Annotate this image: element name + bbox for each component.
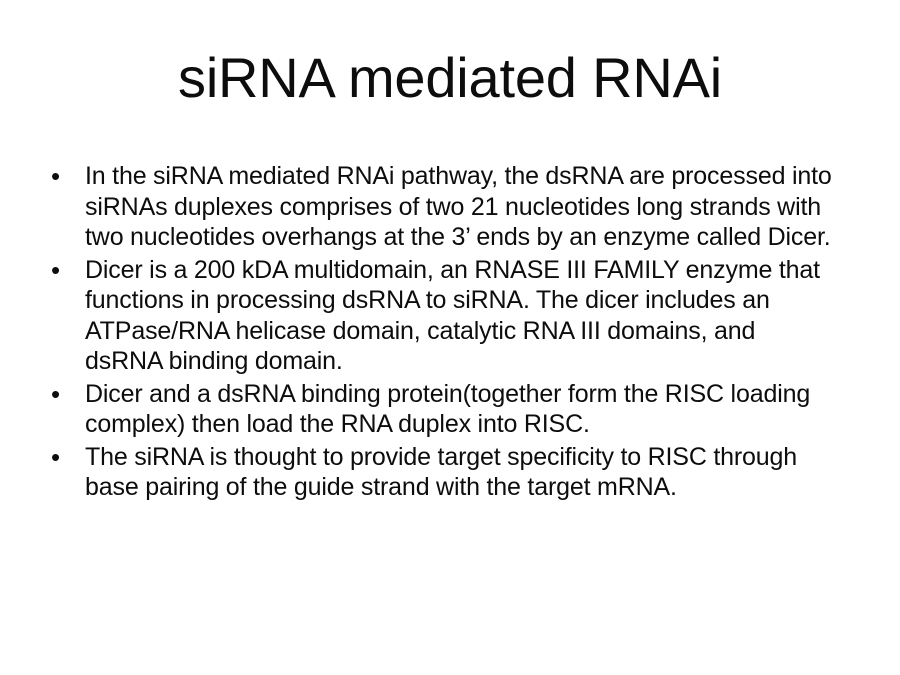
bullet-marker-icon: • <box>44 442 85 473</box>
list-item: • The siRNA is thought to provide target… <box>44 442 834 503</box>
bullet-text: Dicer and a dsRNA binding protein(togeth… <box>85 379 834 440</box>
bullet-marker-icon: • <box>44 161 85 192</box>
list-item: • Dicer and a dsRNA binding protein(toge… <box>44 379 834 440</box>
bullet-text: The siRNA is thought to provide target s… <box>85 442 834 503</box>
bullet-text: Dicer is a 200 kDA multidomain, an RNASE… <box>85 255 834 377</box>
list-item: • Dicer is a 200 kDA multidomain, an RNA… <box>44 255 834 377</box>
list-item: • In the siRNA mediated RNAi pathway, th… <box>44 161 834 253</box>
presentation-slide: siRNA mediated RNAi • In the siRNA media… <box>0 0 900 675</box>
bullet-text: In the siRNA mediated RNAi pathway, the … <box>85 161 834 253</box>
slide-body-content: • In the siRNA mediated RNAi pathway, th… <box>44 161 834 505</box>
bullet-marker-icon: • <box>44 255 85 286</box>
slide-title: siRNA mediated RNAi <box>0 46 900 110</box>
bullet-marker-icon: • <box>44 379 85 410</box>
